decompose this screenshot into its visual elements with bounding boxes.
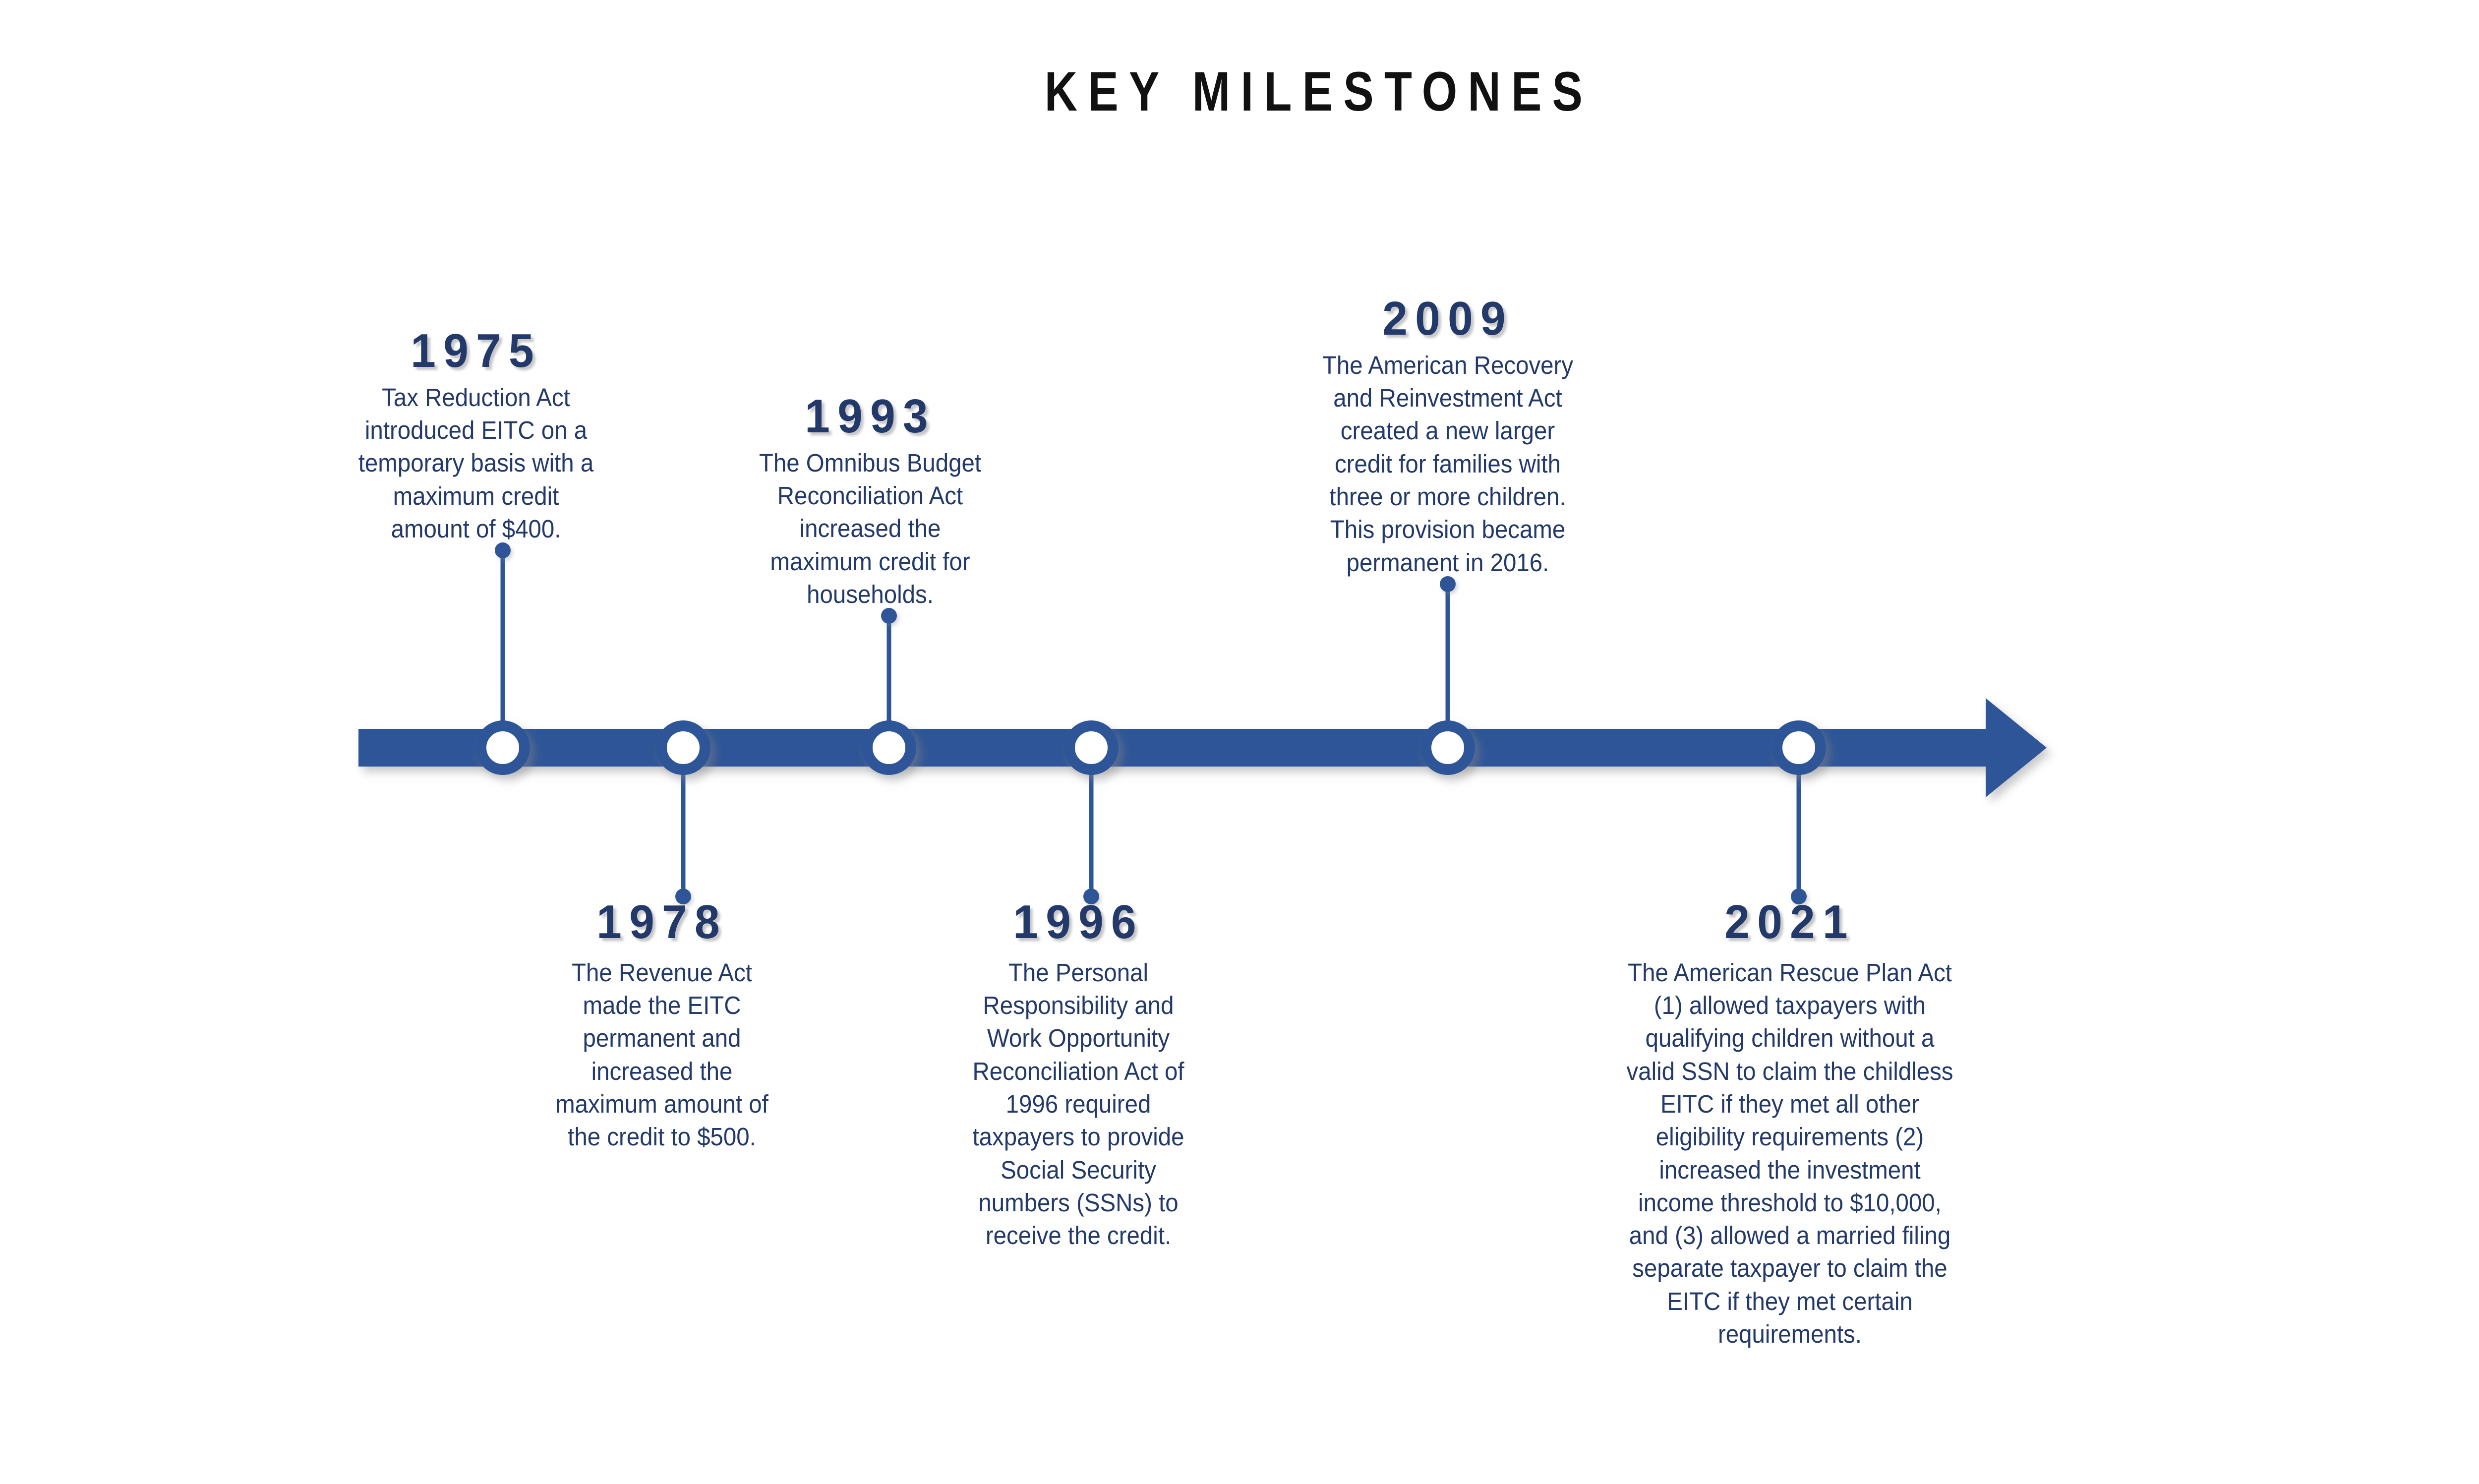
timeline-marker-2021[interactable] xyxy=(1777,726,1821,770)
milestone-2009[interactable]: 2009 The American Recovery and Reinvestm… xyxy=(1309,294,1587,579)
timeline-marker-1996[interactable] xyxy=(1069,726,1113,770)
milestone-1975[interactable]: 1975 Tax Reduction Act introduced EITC o… xyxy=(347,326,605,545)
page-title: KEY MILESTONES xyxy=(237,59,2400,123)
timeline-axis-svg xyxy=(0,0,2479,1484)
connector-1975 xyxy=(495,542,511,729)
milestone-text-1975: Tax Reduction Act introduced EITC on a t… xyxy=(356,381,596,545)
timeline-axis-container xyxy=(0,0,2479,1484)
milestone-1996[interactable]: 1996 The Personal Responsibility and Wor… xyxy=(949,897,1207,1252)
timeline-marker-1993[interactable] xyxy=(867,726,911,770)
connector-1993 xyxy=(881,608,897,729)
milestone-text-2009: The American Recovery and Reinvestment A… xyxy=(1319,349,1577,579)
timeline-marker-1978[interactable] xyxy=(661,726,705,770)
milestone-year-1996: 1996 xyxy=(956,897,1201,948)
milestone-year-2009: 2009 xyxy=(1316,294,1580,344)
milestone-1993[interactable]: 1993 The Omnibus Budget Reconciliation A… xyxy=(741,392,999,611)
connector-2009 xyxy=(1440,576,1456,729)
connector-2021 xyxy=(1791,767,1807,904)
milestone-year-1975: 1975 xyxy=(354,326,598,376)
milestone-text-2021: The American Rescue Plan Act (1) allowed… xyxy=(1619,956,1960,1351)
milestone-year-1978: 1978 xyxy=(539,897,784,948)
timeline-marker-1975[interactable] xyxy=(481,726,525,770)
milestone-1978[interactable]: 1978 The Revenue Act made the EITC perma… xyxy=(533,897,791,1154)
connector-1978 xyxy=(675,767,691,904)
milestone-year-2021: 2021 xyxy=(1616,897,1964,948)
milestone-year-1993: 1993 xyxy=(748,392,993,442)
milestone-text-1993: The Omnibus Budget Reconciliation Act in… xyxy=(750,447,990,611)
milestone-text-1978: The Revenue Act made the EITC permanent … xyxy=(542,956,782,1154)
connector-1996 xyxy=(1083,767,1099,904)
milestone-2021[interactable]: 2021 The American Rescue Plan Act (1) al… xyxy=(1606,897,1973,1351)
timeline-marker-2009[interactable] xyxy=(1426,726,1470,770)
milestone-text-1996: The Personal Responsibility and Work Opp… xyxy=(958,956,1198,1252)
timeline-bar-arrow xyxy=(358,698,2047,797)
